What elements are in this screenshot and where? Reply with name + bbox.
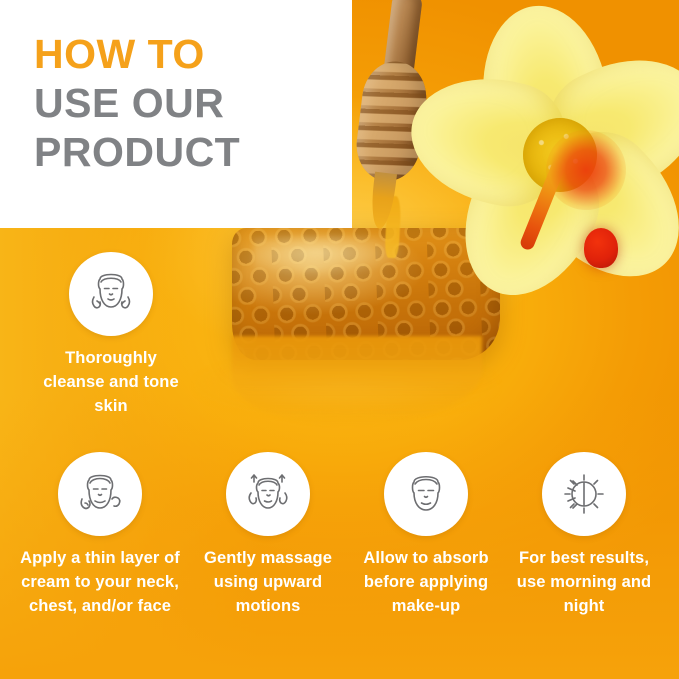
step-3-caption: Gently massage using upward motions xyxy=(190,546,346,618)
step-3-icon-circle xyxy=(226,452,310,536)
flower-stamen-tip xyxy=(584,228,618,268)
step-2-caption: Apply a thin layer of cream to your neck… xyxy=(20,546,180,618)
face-absorb-icon xyxy=(395,463,457,525)
face-massage-upward-icon xyxy=(237,463,299,525)
step-5-icon-circle xyxy=(542,452,626,536)
step-item-5: For best results, use morning and night xyxy=(508,452,660,618)
flower-stamen-petals xyxy=(546,130,626,210)
step-1-icon-circle xyxy=(69,252,153,336)
dipper-tip xyxy=(368,172,397,230)
product-instructions-graphic: HOW TO USE OUR PRODUCT Thoroughly clean xyxy=(0,0,679,679)
step-5-caption: For best results, use morning and night xyxy=(508,546,660,618)
step-item-3: Gently massage using upward motions xyxy=(190,452,346,618)
step-item-2: Apply a thin layer of cream to your neck… xyxy=(20,452,180,618)
title-line-3: PRODUCT xyxy=(34,128,342,177)
sun-moon-icon xyxy=(553,463,615,525)
hibiscus-flower-icon xyxy=(434,10,679,300)
step-item-1: Thoroughly cleanse and tone skin xyxy=(38,252,184,418)
title-line-1: HOW TO xyxy=(34,30,342,79)
header-panel: HOW TO USE OUR PRODUCT xyxy=(0,0,352,228)
face-apply-cream-icon xyxy=(69,463,131,525)
step-item-4: Allow to absorb before applying make-up xyxy=(350,452,502,618)
face-cleanse-icon xyxy=(80,263,142,325)
page-title: HOW TO USE OUR PRODUCT xyxy=(34,30,342,177)
title-line-2: USE OUR xyxy=(34,79,342,128)
step-4-caption: Allow to absorb before applying make-up xyxy=(350,546,502,618)
step-2-icon-circle xyxy=(58,452,142,536)
step-1-caption: Thoroughly cleanse and tone skin xyxy=(38,346,184,418)
step-4-icon-circle xyxy=(384,452,468,536)
